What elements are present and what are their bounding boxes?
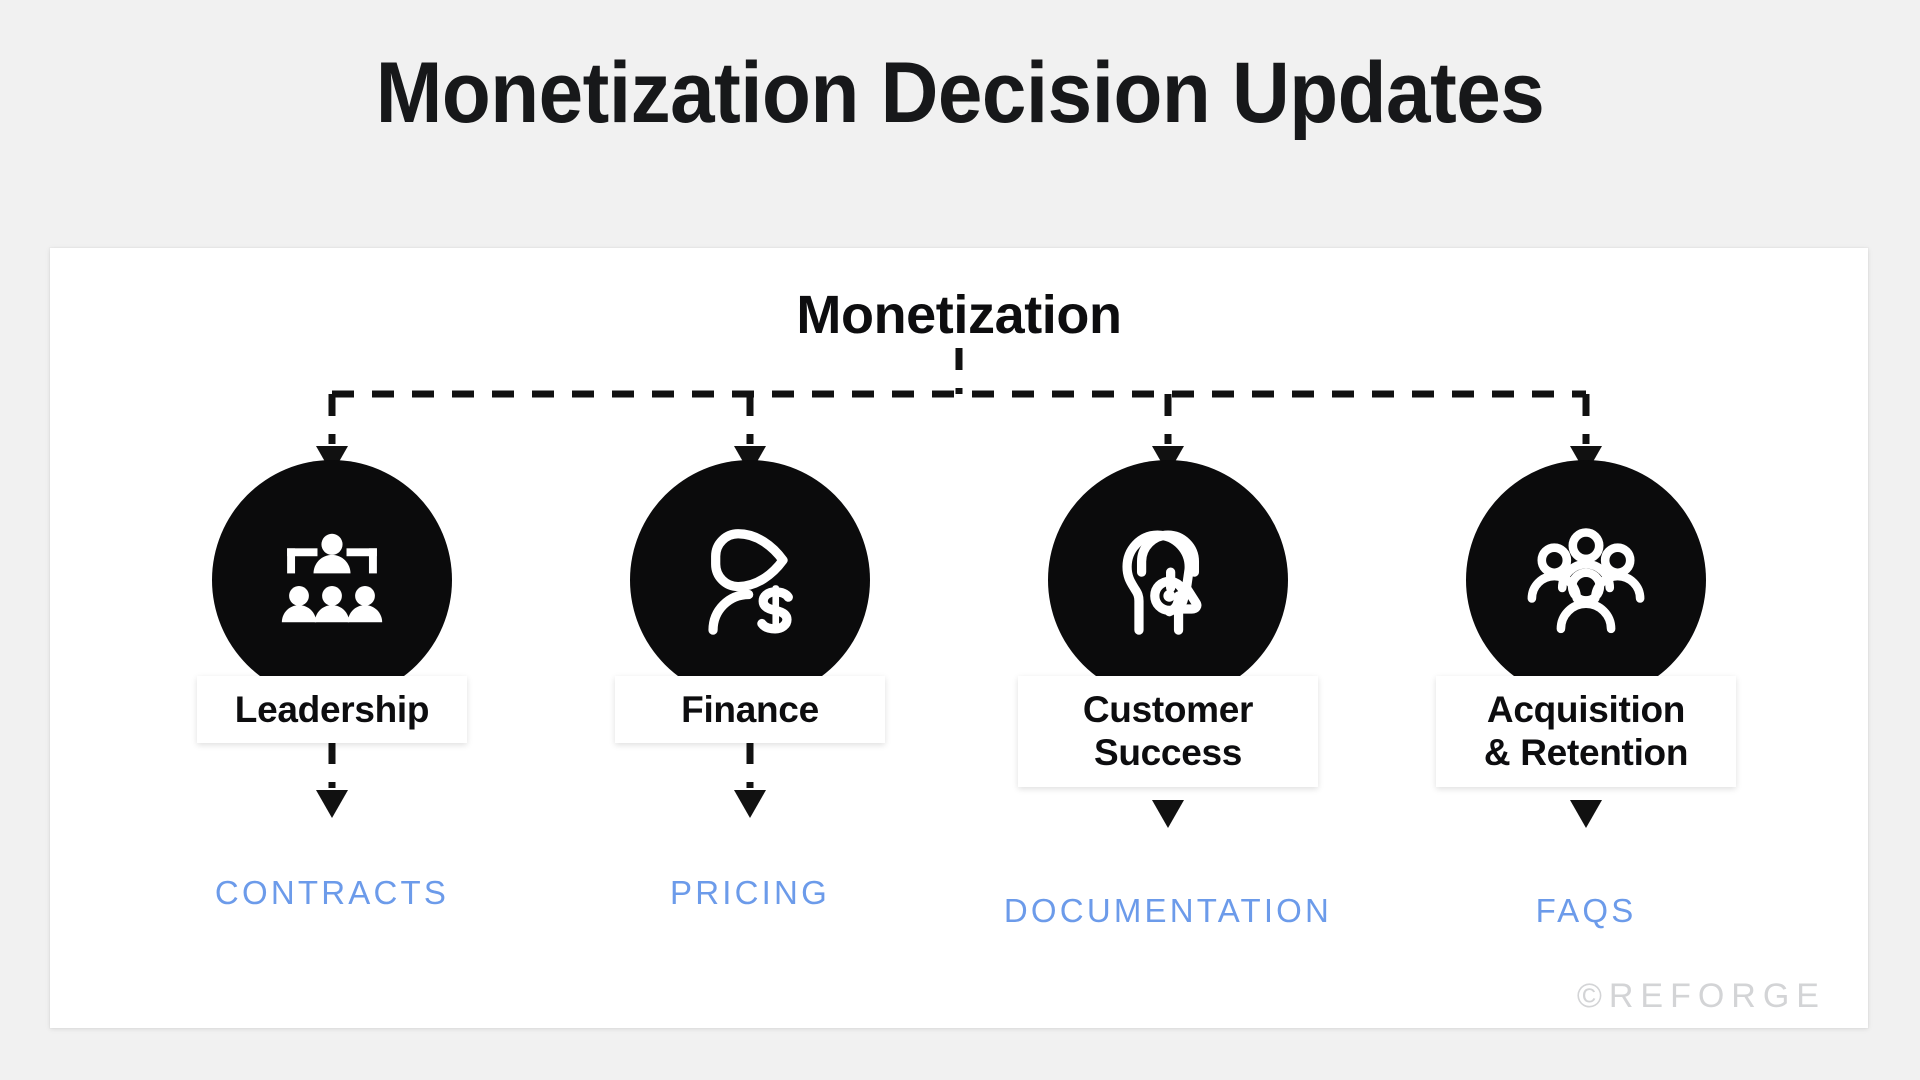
head-headset-icon [1102, 514, 1234, 646]
diagram-canvas: Monetization Decision Updates Monetizati… [0, 0, 1920, 1080]
finance-icon-circle[interactable] [630, 460, 870, 700]
branch-acquisition-retention[interactable]: Acquisition & Retention FAQS [1421, 460, 1751, 980]
reforge-watermark: ©REFORGE [1577, 977, 1826, 1016]
diagram-card: Monetization [50, 248, 1868, 1028]
customer-success-node-label: Customer Success [1018, 676, 1318, 787]
person-dollar-icon [684, 514, 816, 646]
leadership-icon-circle[interactable] [212, 460, 452, 700]
page-title: Monetization Decision Updates [67, 44, 1853, 143]
org-chart-people-icon [266, 514, 398, 646]
leaf-label-pricing[interactable]: PRICING [540, 874, 960, 912]
leaf-label-documentation[interactable]: DOCUMENTATION [958, 892, 1378, 930]
branch-finance[interactable]: Finance PRICING [585, 460, 915, 980]
acquisition-retention-icon-circle[interactable] [1466, 460, 1706, 700]
group-people-icon [1520, 514, 1652, 646]
acquisition-retention-node-label: Acquisition & Retention [1436, 676, 1736, 787]
leadership-node-label: Leadership [197, 676, 467, 743]
root-node-label: Monetization [50, 284, 1868, 346]
leaf-label-faqs[interactable]: FAQS [1376, 892, 1796, 930]
branch-leadership[interactable]: Leadership CONTRACTS [167, 460, 497, 980]
leaf-label-contracts[interactable]: CONTRACTS [122, 874, 542, 912]
branch-customer-success[interactable]: Customer Success DOCUMENTATION [1003, 460, 1333, 980]
customer-success-icon-circle[interactable] [1048, 460, 1288, 700]
finance-node-label: Finance [615, 676, 885, 743]
